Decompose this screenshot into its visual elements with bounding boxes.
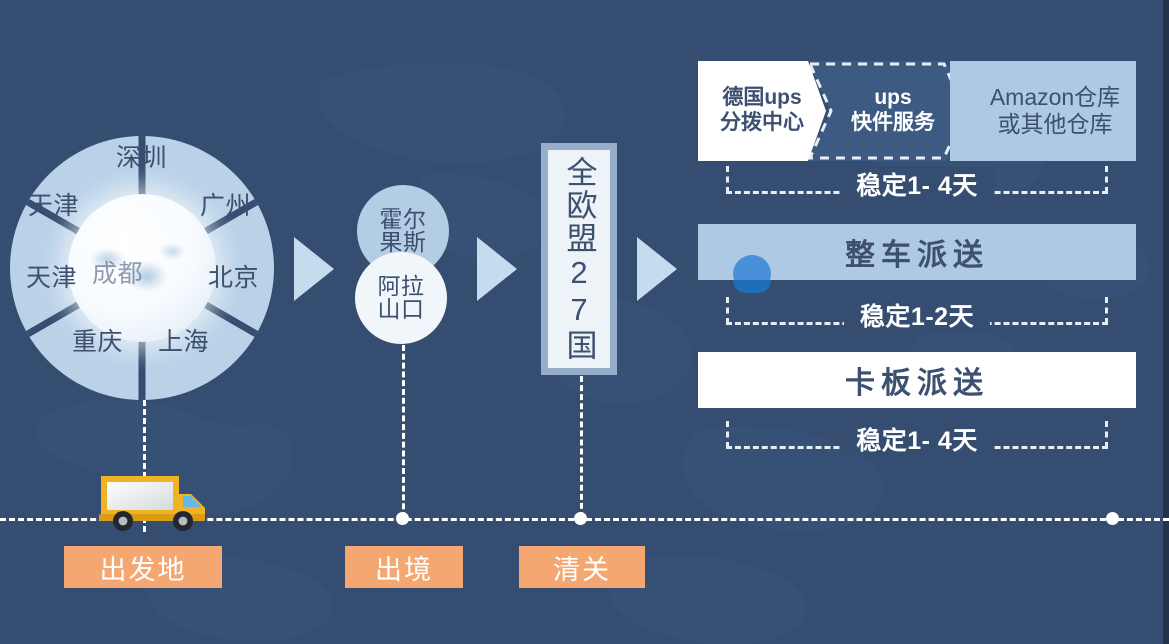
bracket-1-tick-left	[726, 166, 729, 193]
wheel-label-shanghai: 上海	[158, 322, 209, 358]
logistics-flow-diagram: 深圳 广州 北京 上海 重庆 天津 天津 成都 霍尔 果斯 阿拉 山口 全欧盟2…	[0, 0, 1169, 644]
bracket-2-tick-right	[1105, 297, 1108, 324]
amazon-warehouse-line-2: 或其他仓库	[998, 111, 1113, 138]
timeline-label-clearance[interactable]: 清关	[519, 546, 645, 588]
chevron-2-text: ups 快件服务	[841, 61, 935, 161]
bracket-ups-transit-time: 稳定1- 4天	[726, 166, 1108, 200]
chevron-amazon-warehouse: Amazon仓库 或其他仓库	[950, 61, 1136, 161]
timeline-connector-exit	[402, 345, 405, 518]
timeline-dot-exit	[396, 512, 409, 525]
timeline-dot-clearance	[574, 512, 587, 525]
german-ups-hub-line-1: 德国ups	[722, 86, 801, 111]
origin-cities-wheel: 深圳 广州 北京 上海 重庆 天津 天津 成都	[8, 134, 276, 402]
timeline-label-exit[interactable]: 出境	[345, 546, 463, 588]
timeline-label-origin[interactable]: 出发地	[64, 546, 222, 588]
pallet-delivery-label: 卡板派送	[845, 358, 989, 402]
horgos-line-2: 果斯	[380, 231, 427, 254]
chevron-german-ups-hub: 德国ups 分拨中心	[698, 61, 826, 161]
arrow-2-icon	[477, 237, 517, 301]
border-node-alashankou: 阿拉 山口	[355, 252, 447, 344]
timeline-connector-clearance	[580, 376, 583, 518]
wheel-label-tianjin: 天津	[28, 186, 79, 222]
full-truck-delivery-label: 整车派送	[845, 230, 989, 274]
bracket-full-truck-transit-time: 稳定1-2天	[726, 297, 1108, 331]
eu-box-panel: 全欧盟27国	[548, 150, 610, 368]
bracket-3-label: 稳定1- 4天	[840, 421, 994, 457]
bracket-pallet-transit-time: 稳定1- 4天	[726, 421, 1108, 455]
eu-box-label: 全欧盟27国	[557, 156, 602, 362]
wheel-center-label: 成都	[92, 254, 143, 290]
ups-express-line-2: 快件服务	[851, 111, 935, 136]
arrow-1-icon	[294, 237, 334, 301]
bracket-1-tick-right	[1105, 166, 1108, 193]
bracket-3-tick-right	[1105, 421, 1108, 448]
wheel-label-shenzhen: 深圳	[116, 138, 167, 174]
wheel-label-chengdu-outer: 天津	[26, 258, 77, 294]
ups-delivery-chevron-row: 德国ups 分拨中心 ups 快件服务 Amazon仓库 或其他仓库	[698, 61, 1136, 161]
timeline-label-clearance-text: 清关	[553, 548, 611, 587]
ups-express-line-1: ups	[874, 86, 911, 111]
alashankou-line-2: 山口	[378, 298, 425, 321]
wheel-label-guangzhou: 广州	[200, 186, 251, 222]
bracket-2-tick-left	[726, 297, 729, 324]
bracket-1-label: 稳定1- 4天	[840, 166, 994, 202]
right-edge-strip	[1163, 0, 1169, 644]
horgos-line-1: 霍尔	[380, 208, 427, 231]
wheel-label-beijing: 北京	[208, 258, 259, 294]
wheel-label-chongqing: 重庆	[72, 322, 123, 358]
delivery-truck-icon	[95, 470, 210, 532]
alashankou-line-1: 阿拉	[378, 275, 425, 298]
timeline-label-origin-text: 出发地	[100, 548, 187, 587]
eu-27-countries-box: 全欧盟27国	[541, 143, 617, 375]
bar-pallet-delivery: 卡板派送	[698, 352, 1136, 408]
german-ups-hub-line-2: 分拨中心	[720, 111, 804, 136]
chevron-ups-express-service: ups 快件服务	[808, 61, 968, 161]
timeline-label-exit-text: 出境	[375, 548, 433, 587]
timeline-dot-destination	[1106, 512, 1119, 525]
arrow-3-icon	[637, 237, 677, 301]
amazon-warehouse-line-1: Amazon仓库	[990, 84, 1120, 111]
bracket-3-tick-left	[726, 421, 729, 448]
bracket-2-label: 稳定1-2天	[844, 297, 990, 333]
